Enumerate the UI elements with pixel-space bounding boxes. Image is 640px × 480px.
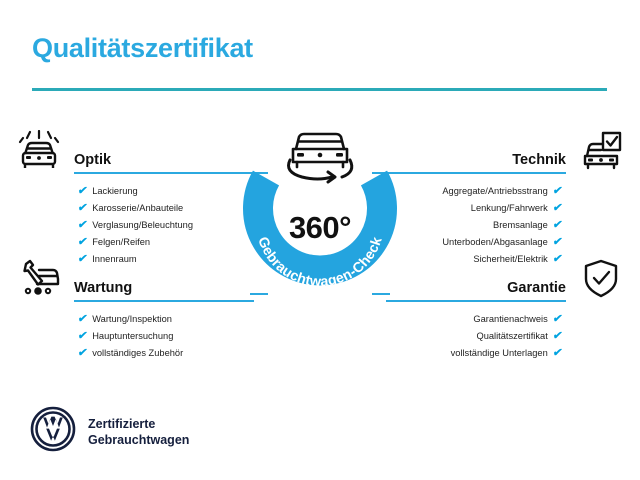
list-item: ✔Wartung/Inspektion [78,311,254,328]
check-icon: ✔ [552,348,563,359]
section-wartung-title-wrap: Wartung [62,280,254,302]
check-icon: ✔ [552,203,563,214]
list-item: ✔Garantienachweis [473,311,562,328]
badge-360-check: Gebrauchtwagen-Check 360° [232,118,408,304]
list-item: ✔Hauptuntersuchung [78,328,254,345]
shield-check-icon [578,256,624,302]
section-optik-title: Optik [74,152,254,172]
page-title: Qualitätszertifikat [32,33,253,64]
check-icon: ✔ [77,348,88,359]
vw-brand-block: Zertifizierte Gebrauchtwagen [30,406,189,457]
check-icon: ✔ [552,237,563,248]
list-item: ✔vollständiges Zubehör [78,345,254,362]
section-wartung: Wartung ✔Wartung/Inspektion ✔Hauptunters… [16,256,254,362]
section-technik: Technik ✔Aggregate/Antriebsstrang ✔Lenku… [386,128,624,268]
check-icon: ✔ [77,314,88,325]
check-icon: ✔ [77,220,88,231]
section-wartung-header: Wartung [16,256,254,302]
list-item-label: Lenkung/Fahrwerk [471,200,548,217]
list-item-label: Unterboden/Abgasanlage [442,234,547,251]
list-item-label: Qualitätszertifikat [476,328,547,345]
car-shine-icon [16,128,62,174]
section-technik-list: ✔Aggregate/Antriebsstrang ✔Lenkung/Fahrw… [386,174,624,268]
list-item: ✔vollständige Unterlagen [451,345,562,362]
title-divider [32,88,607,91]
list-item: ✔Lenkung/Fahrwerk [471,200,562,217]
list-item: ✔Qualitätszertifikat [476,328,562,345]
list-item-label: Verglasung/Beleuchtung [92,217,193,234]
section-garantie-list: ✔Garantienachweis ✔Qualitätszertifikat ✔… [386,302,624,362]
section-garantie-underline [386,300,566,302]
vw-logo-icon [30,406,76,457]
list-item-label: Karosserie/Anbauteile [92,200,183,217]
section-optik-title-wrap: Optik [62,152,254,174]
section-garantie-title: Garantie [386,280,566,300]
section-optik-list: ✔Lackierung ✔Karosserie/Anbauteile ✔Verg… [16,174,254,268]
list-item-label: vollständiges Zubehör [92,345,183,362]
section-optik: Optik ✔Lackierung ✔Karosserie/Anbauteile… [16,128,254,268]
check-icon: ✔ [77,203,88,214]
car-rotate-icon [289,134,352,182]
vw-brand-line2: Gebrauchtwagen [88,432,189,448]
section-optik-header: Optik [16,128,254,174]
list-item-label: vollständige Unterlagen [451,345,548,362]
list-item: ✔Unterboden/Abgasanlage [442,234,562,251]
badge-center-value: 360° [232,210,408,246]
section-wartung-underline [74,300,254,302]
section-technik-underline [386,172,566,174]
wrench-car-icon [16,256,62,302]
check-icon: ✔ [552,220,563,231]
section-wartung-title: Wartung [74,280,254,300]
list-item: ✔Karosserie/Anbauteile [78,200,254,217]
check-icon: ✔ [77,331,88,342]
list-item: ✔Lackierung [78,183,254,200]
check-icon: ✔ [77,237,88,248]
list-item-label: Lackierung [92,183,137,200]
section-garantie-title-wrap: Garantie [386,280,578,302]
check-icon: ✔ [552,314,563,325]
car-checkbox-icon [578,128,624,174]
section-garantie-header: Garantie [386,256,624,302]
list-item-label: Wartung/Inspektion [92,311,172,328]
section-optik-underline [74,172,254,174]
list-item: ✔Bremsanlage [493,217,562,234]
list-item-label: Garantienachweis [473,311,547,328]
list-item-label: Hauptuntersuchung [92,328,173,345]
list-item: ✔Felgen/Reifen [78,234,254,251]
check-icon: ✔ [552,331,563,342]
section-technik-title-wrap: Technik [386,152,578,174]
list-item-label: Felgen/Reifen [92,234,150,251]
check-icon: ✔ [552,186,563,197]
section-garantie: Garantie ✔Garantienachweis ✔Qualitätszer… [386,256,624,362]
list-item-label: Aggregate/Antriebsstrang [442,183,547,200]
check-icon: ✔ [77,186,88,197]
vw-brand-text: Zertifizierte Gebrauchtwagen [88,416,189,448]
list-item: ✔Verglasung/Beleuchtung [78,217,254,234]
vw-brand-line1: Zertifizierte [88,416,189,432]
list-item-label: Bremsanlage [493,217,548,234]
section-technik-header: Technik [386,128,624,174]
list-item: ✔Aggregate/Antriebsstrang [442,183,562,200]
section-wartung-list: ✔Wartung/Inspektion ✔Hauptuntersuchung ✔… [16,302,254,362]
section-technik-title: Technik [386,152,566,172]
